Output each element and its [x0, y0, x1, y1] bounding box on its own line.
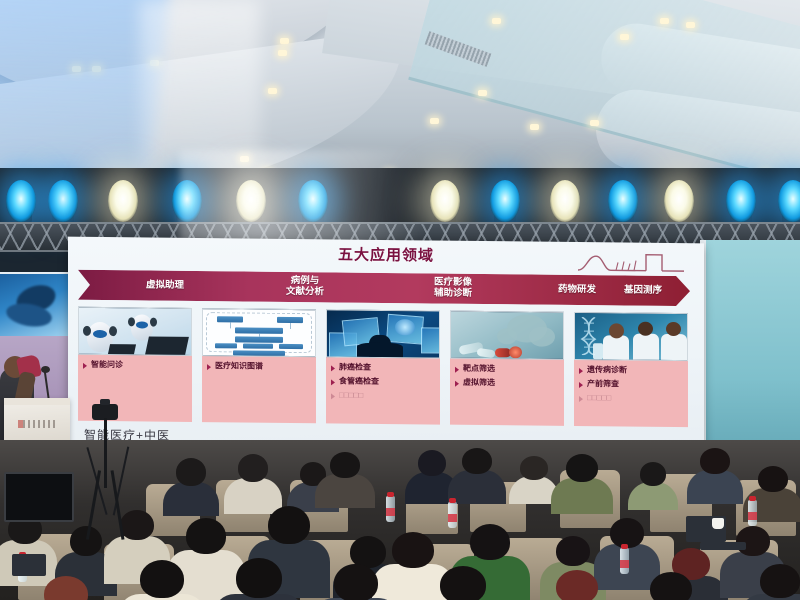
audience-member-shoulders — [687, 470, 743, 504]
ceiling-downlight — [478, 90, 487, 96]
right-wall-panel — [706, 240, 800, 472]
presentation-screen: 五大应用领域 — [68, 237, 704, 452]
audience-member-head — [70, 526, 102, 556]
stylized-wave-logo — [576, 250, 686, 275]
podium-top-surface — [4, 398, 70, 405]
microphone-icon — [41, 366, 50, 373]
bottle-cap — [387, 492, 394, 497]
ceiling-downlight — [590, 120, 599, 126]
stage-light-blue — [608, 180, 638, 222]
bullet-label: 医疗知识图谱 — [215, 362, 263, 371]
bullet-triangle-icon — [207, 364, 211, 370]
ceiling-downlight — [280, 38, 289, 44]
audience-member-head — [418, 450, 446, 476]
banner-segment-2: 病例与 文献分析 — [230, 271, 380, 303]
medical-imaging-scans-photo — [326, 309, 440, 358]
list-item: □□□□□ — [331, 391, 435, 401]
stage-light-white — [664, 180, 694, 222]
hall-ceiling — [0, 0, 800, 175]
audience-member-head — [758, 466, 788, 492]
audience-member-head — [186, 518, 226, 554]
bullet-label: 虚拟筛选 — [463, 379, 495, 388]
banner-segment-5: 基因测序 — [598, 275, 688, 306]
bottle-label — [448, 514, 457, 522]
card-bullets: 遗传病诊断 产前筛查 □□□□□ — [574, 360, 688, 427]
conference-photo-scene: 五大应用领域 — [0, 0, 800, 600]
card-bullets: 靶点筛选 虚拟筛选 — [450, 359, 564, 426]
bullet-triangle-icon — [455, 381, 459, 387]
audience-member-head — [640, 462, 666, 486]
bullet-label: 智能问诊 — [91, 361, 123, 370]
bottle-label — [620, 560, 629, 568]
water-bottle — [448, 502, 457, 528]
audience-member-head — [176, 458, 206, 486]
audience-member-head — [736, 526, 770, 556]
audience-member-shoulders — [551, 478, 613, 514]
laptop-keyboard — [700, 542, 746, 550]
card-gene-sequencing: 遗传病诊断 产前筛查 □□□□□ — [574, 312, 688, 427]
audience-member-head — [334, 564, 378, 600]
audience-member-head — [470, 524, 510, 560]
left-side-display — [0, 272, 72, 338]
list-item: 产前筛查 — [579, 380, 683, 390]
audience-member-head — [556, 536, 590, 566]
bullet-triangle-icon — [579, 382, 583, 388]
stage-light-blue — [778, 180, 800, 222]
audience-member-head — [392, 532, 434, 568]
service-robots-photo — [78, 307, 192, 356]
audience-member-shoulders — [224, 478, 282, 514]
knowledge-graph-flowchart — [202, 308, 316, 357]
process-arrow-banner: 虚拟助理病例与 文献分析医疗影像 辅助诊断药物研发基因测序 — [78, 270, 690, 306]
banner-segment-label: 药物研发 — [558, 284, 596, 295]
ceiling-downlight — [268, 88, 277, 94]
bottle-label — [386, 508, 395, 516]
tripod-leg — [104, 418, 107, 488]
bottle-cap — [621, 544, 628, 549]
banner-segment-label: 基因测序 — [624, 285, 662, 296]
podium-emblem — [18, 420, 58, 428]
card-medical-imaging: 肺癌检查 食管癌检查 □□□□□ — [326, 309, 440, 424]
audience-member-head — [462, 448, 492, 474]
ceiling-downlight — [620, 34, 629, 40]
video-monitor — [4, 472, 74, 522]
card-case-literature-analysis: 医疗知识图谱 — [202, 308, 316, 423]
list-item: □□□□□ — [579, 394, 683, 404]
bottle-cap — [749, 496, 756, 501]
audience-member-head — [120, 510, 154, 540]
banner-segment-label: 虚拟助理 — [146, 280, 184, 291]
audience-member-head — [268, 506, 310, 544]
audience-member-head — [556, 570, 598, 600]
bullet-label: □□□□□ — [339, 391, 363, 400]
list-item: 靶点筛选 — [455, 365, 559, 375]
bullet-label: 靶点筛选 — [463, 365, 495, 374]
ceiling-downlight — [492, 18, 501, 24]
list-item: 医疗知识图谱 — [207, 362, 311, 372]
stage-light-blue — [726, 180, 756, 222]
genomics-lab-photo — [574, 312, 688, 361]
bullet-label: 肺癌检查 — [339, 364, 371, 373]
bullet-triangle-icon — [331, 393, 335, 399]
water-bottle — [386, 496, 395, 522]
card-drug-research: 靶点筛选 虚拟筛选 — [450, 311, 564, 426]
audience-member-head — [650, 572, 692, 600]
water-bottle — [620, 548, 629, 574]
audience-member-shoulders — [163, 482, 219, 516]
audience-member-head — [566, 454, 598, 482]
audience-member-head — [236, 558, 282, 598]
bullet-label: 遗传病诊断 — [587, 366, 627, 375]
list-item: 食管癌检查 — [331, 377, 435, 387]
audience-member-shoulders — [315, 474, 375, 508]
audience-member-head — [760, 564, 800, 598]
audience-member-head — [520, 456, 548, 480]
bullet-triangle-icon — [579, 396, 583, 402]
white-light-beam — [140, 0, 260, 175]
stage-light-white — [108, 180, 138, 222]
audience-member-head — [440, 566, 486, 600]
bullet-label: □□□□□ — [587, 394, 611, 403]
ceiling-downlight — [686, 22, 695, 28]
card-bullets: 肺癌检查 食管癌检查 □□□□□ — [326, 357, 440, 424]
laptop — [12, 554, 46, 576]
audience-member-shoulders — [448, 470, 506, 504]
card-bullets: 医疗知识图谱 — [202, 356, 316, 423]
list-item: 肺癌检查 — [331, 363, 435, 373]
bullet-triangle-icon — [83, 363, 87, 369]
stage-light-blue — [6, 180, 36, 222]
banner-segment-1: 虚拟助理 — [100, 270, 230, 301]
water-bottle — [748, 500, 757, 526]
audience-member-head — [330, 452, 360, 478]
bullet-label: 产前筛查 — [587, 380, 619, 389]
ceiling-downlight — [530, 124, 539, 130]
application-card-row: 智能问诊 — [78, 307, 690, 423]
bullet-label: 食管癌检查 — [339, 377, 379, 386]
bottle-label — [748, 512, 757, 520]
ceiling-downlight — [430, 118, 439, 124]
ceiling-downlight — [660, 18, 669, 24]
audience-member-head — [238, 454, 268, 482]
audience-member-head — [140, 560, 184, 598]
coffee-cup — [712, 518, 724, 529]
bullet-triangle-icon — [331, 379, 335, 385]
bottle-cap — [449, 498, 456, 503]
list-item: 虚拟筛选 — [455, 379, 559, 389]
drug-research-photo — [450, 311, 564, 360]
stage-light-blue — [490, 180, 520, 222]
bullet-triangle-icon — [455, 367, 459, 373]
ceiling-downlight — [278, 50, 287, 56]
stage-light-white — [550, 180, 580, 222]
list-item: 遗传病诊断 — [579, 366, 683, 376]
banner-segment-3: 医疗影像 辅助诊断 — [378, 273, 528, 305]
bullet-triangle-icon — [579, 368, 583, 374]
audience-member-head — [700, 448, 730, 474]
banner-segment-label: 病例与 文献分析 — [286, 276, 324, 298]
stage-light-blue — [48, 180, 78, 222]
banner-segment-label: 医疗影像 辅助诊断 — [434, 278, 472, 300]
bullet-triangle-icon — [331, 365, 335, 371]
list-item: 智能问诊 — [83, 361, 187, 371]
